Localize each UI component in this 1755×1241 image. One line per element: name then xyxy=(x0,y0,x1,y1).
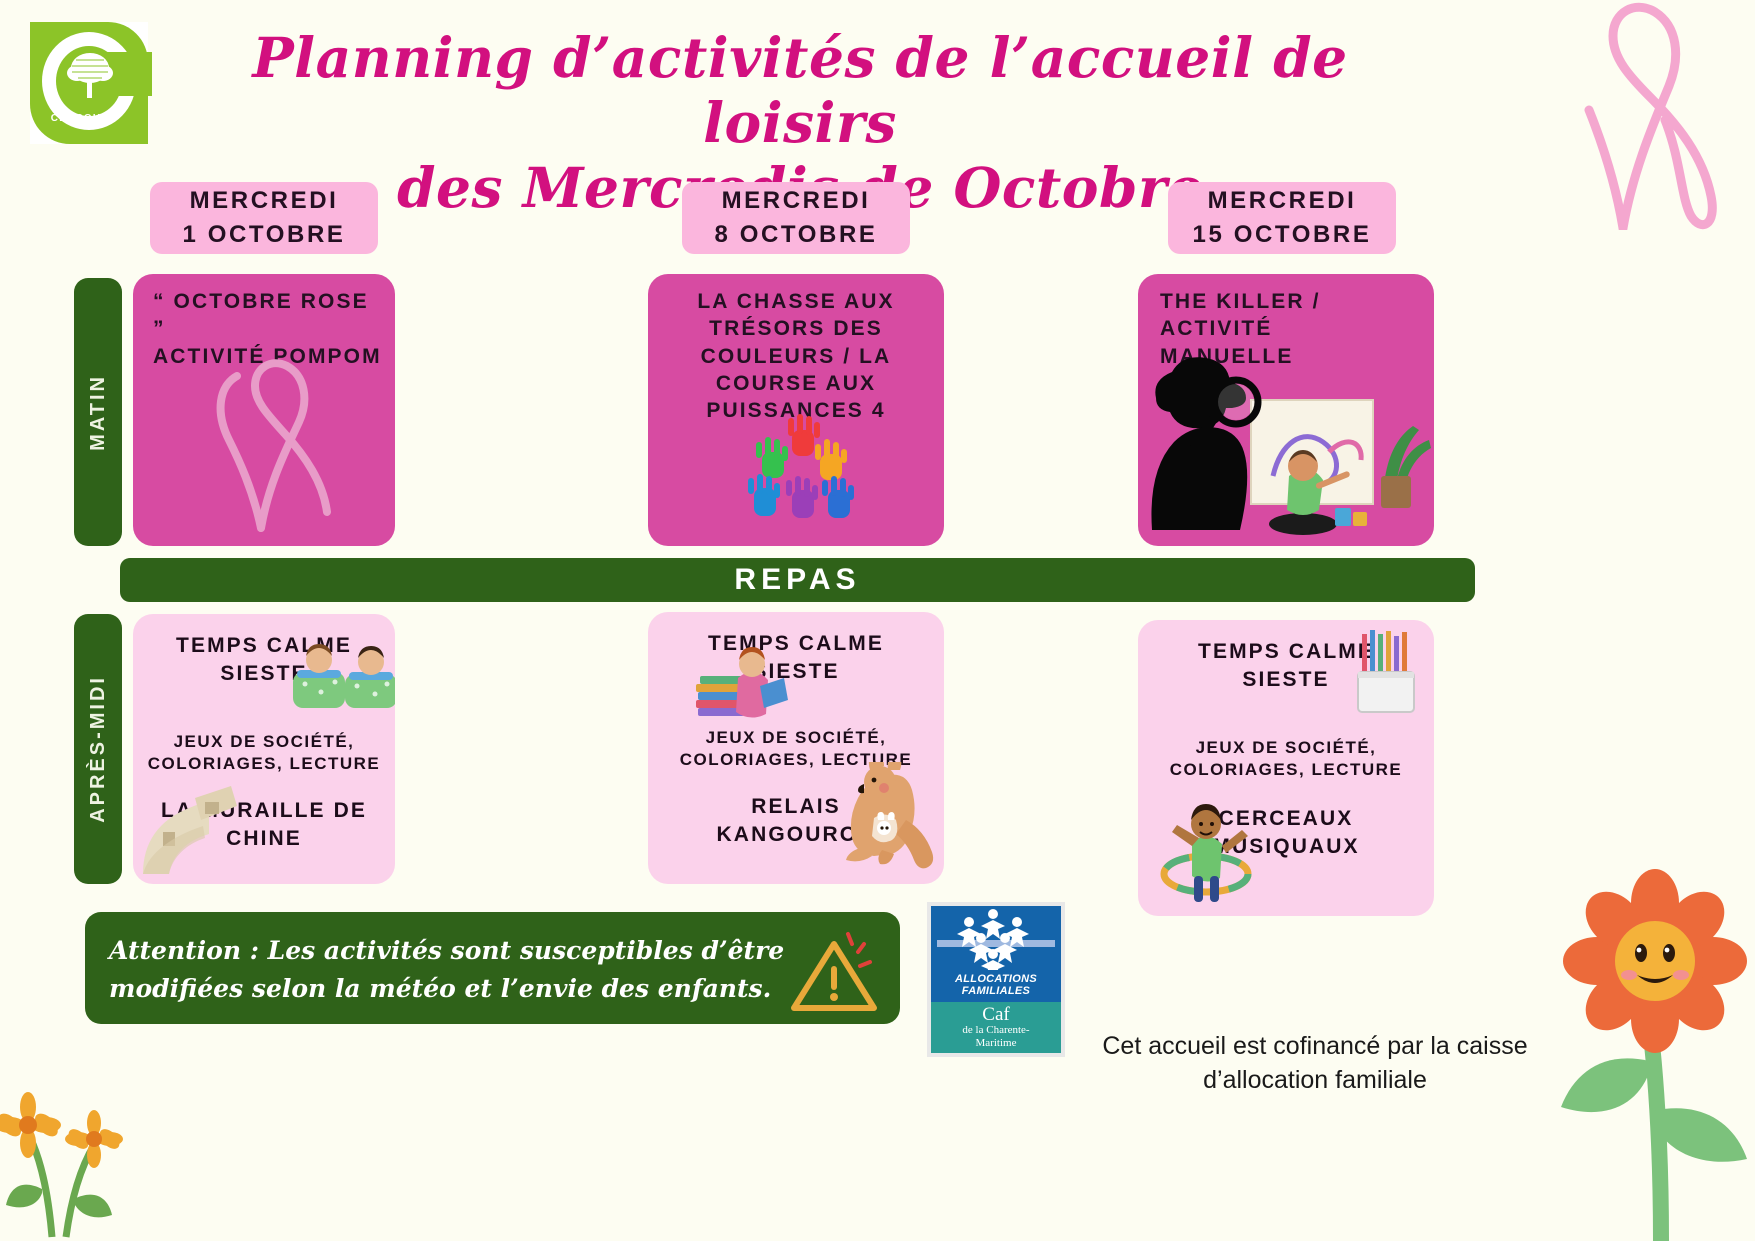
day-header-1-octobre: MERCREDI 1 OCTOBRE xyxy=(150,182,378,254)
morning-card-day-2: LA CHASSE AUXTRÉSORS DESCOULEURS / LACOU… xyxy=(648,274,944,546)
caf-line-familiales: FAMILIALES xyxy=(962,985,1030,998)
row-label-matin: MATIN xyxy=(74,278,122,546)
afternoon-card-day-3: TEMPS CALMESIESTE JEUX DE SOCIÉTÉ,COLORI… xyxy=(1138,620,1434,916)
caf-logo-top: ALLOCATIONS FAMILIALES xyxy=(931,906,1061,1002)
day-header-weekday: MERCREDI xyxy=(722,184,871,218)
warning-triangle-icon xyxy=(786,928,882,1014)
family-people-icon xyxy=(931,908,1061,970)
pink-ribbon-icon xyxy=(1505,0,1745,230)
day-header-weekday: MERCREDI xyxy=(190,184,339,218)
day-header-15-octobre: MERCREDI 15 OCTOBRE xyxy=(1168,182,1396,254)
attention-banner: Attention : Les activités sont susceptib… xyxy=(85,912,900,1024)
kangaroo-icon xyxy=(820,762,938,872)
morning-card-day-3: THE KILLER / ACTIVITÉMANUELLE xyxy=(1138,274,1434,546)
caf-logo-bottom: Caf de la Charente- Maritime xyxy=(931,1002,1061,1053)
flower-icon xyxy=(0,1029,129,1239)
cercoux-logo: CERCOUX xyxy=(30,22,148,144)
poster-root: CERCOUX Planning d’activités de l’accuei… xyxy=(0,0,1755,1241)
child-hula-hoop-icon xyxy=(1148,798,1268,910)
day-header-date: 1 OCTOBRE xyxy=(183,218,346,252)
morning-activity-text: LA CHASSE AUXTRÉSORS DESCOULEURS / LACOU… xyxy=(660,288,932,424)
day-header-date: 15 OCTOBRE xyxy=(1193,218,1372,252)
caf-name: Caf xyxy=(982,1005,1009,1024)
afternoon-card-day-2: TEMPS CALMESIESTE JEUX DE SOCIÉTÉ,COLORI… xyxy=(648,612,944,884)
day-header-8-octobre: MERCREDI 8 OCTOBRE xyxy=(682,182,910,254)
colored-pencils-cup-icon xyxy=(1350,630,1426,716)
afternoon-games-text: JEUX DE SOCIÉTÉ,COLORIAGES, LECTURE xyxy=(1138,737,1434,781)
caf-logo: ALLOCATIONS FAMILIALES Caf de la Charent… xyxy=(927,902,1065,1057)
caf-region-line-2: Maritime xyxy=(976,1037,1017,1050)
caf-line-allocations: ALLOCATIONS xyxy=(955,973,1037,986)
day-header-weekday: MERCREDI xyxy=(1208,184,1357,218)
meal-bar-label: REPAS xyxy=(734,563,860,597)
child-painting-icon xyxy=(1243,356,1433,546)
child-reading-books-icon xyxy=(694,638,790,724)
great-wall-icon xyxy=(139,782,259,880)
row-label-matin-text: MATIN xyxy=(87,374,110,451)
flower-icon xyxy=(1465,811,1755,1241)
tree-icon xyxy=(64,48,116,106)
logo-wordmark: CERCOUX xyxy=(30,113,130,124)
caf-region-line-1: de la Charente- xyxy=(962,1024,1029,1037)
row-label-apres-midi: APRÈS-MIDI xyxy=(74,614,122,884)
detective-magnifier-icon xyxy=(1138,334,1268,534)
title-line-1: Planning d’activités de l’accueil de loi… xyxy=(175,26,1425,156)
day-header-date: 8 OCTOBRE xyxy=(715,218,878,252)
row-label-apres-midi-text: APRÈS-MIDI xyxy=(87,675,110,823)
morning-card-day-1: “ OCTOBRE ROSE ”ACTIVITÉ POMPOM xyxy=(133,274,395,546)
sleeping-children-icon xyxy=(291,644,395,714)
meal-bar: REPAS xyxy=(120,558,1475,602)
afternoon-games-text: JEUX DE SOCIÉTÉ,COLORIAGES, LECTURE xyxy=(133,731,395,775)
afternoon-quiet-time: TEMPS CALMESIESTE xyxy=(648,612,944,687)
afternoon-card-day-1: TEMPS CALMESIESTE JEUX DE SOCIÉTÉ,COLORI… xyxy=(133,614,395,884)
colored-handprints-icon xyxy=(730,414,870,544)
attention-text: Attention : Les activités sont susceptib… xyxy=(109,932,809,1007)
pink-ribbon-icon xyxy=(189,352,339,532)
